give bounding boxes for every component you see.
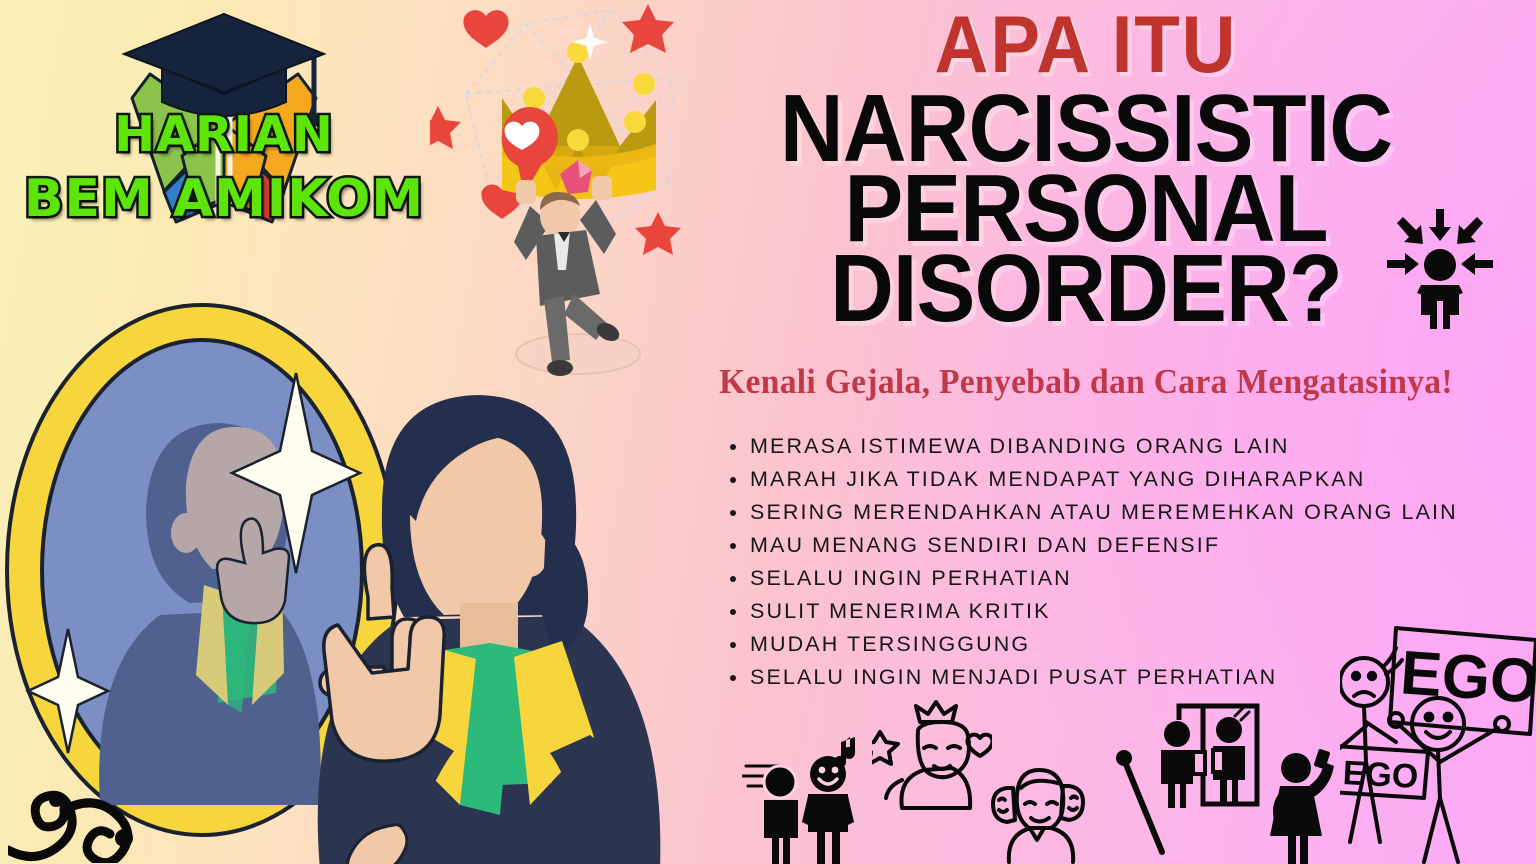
logo-line-1: HARIAN — [14, 106, 434, 163]
page-subtitle: Kenali Gejala, Penyebab dan Cara Mengata… — [654, 362, 1518, 402]
mirror-icon-graphic — [1155, 700, 1260, 812]
list-item: SELALU INGIN PERHATIAN — [728, 562, 1528, 595]
princess-icon-graphic — [872, 700, 992, 815]
harian-bem-amikom-logo: HARIAN BEM AMIKOM — [14, 6, 434, 236]
ego-sign-big-label: EGO — [1398, 638, 1536, 716]
list-item: MAU MENANG SENDIRI DAN DEFENSIF — [728, 529, 1528, 562]
attention-icon-graphic — [1385, 205, 1495, 330]
infographic-poster: HARIAN BEM AMIKOM — [0, 0, 1536, 864]
person-with-inward-arrows-icon — [1385, 205, 1495, 330]
multiple-faces-masks-icon — [985, 752, 1090, 864]
woman-selfie-icon — [1270, 744, 1340, 864]
logo-line-2: BEM AMIKOM — [14, 169, 434, 229]
title-line-3: DISORDER? — [672, 245, 1500, 333]
selfie-icon-graphic — [1270, 744, 1340, 864]
flourish-graphic — [8, 758, 198, 863]
ego-sign-small-label: EGO — [1342, 754, 1419, 796]
faces-icon-graphic — [985, 752, 1090, 864]
decorative-swirl — [8, 758, 198, 863]
bullying-stick-figures-icon — [742, 722, 862, 864]
title-kicker: APA ITU — [672, 8, 1500, 83]
vain-princess-selfie-icon — [872, 700, 992, 815]
ego-protest-signs-icon: EGO EGO — [1340, 612, 1536, 864]
list-item: MARAH JIKA TIDAK MENDAPAT YANG DIHARAPKA… — [728, 463, 1528, 496]
ego-icon-graphic: EGO EGO — [1340, 612, 1536, 864]
list-item: MERASA ISTIMEWA DIBANDING ORANG LAIN — [728, 430, 1528, 463]
person-in-mirror-icon — [1155, 700, 1260, 812]
bullying-icon-graphic — [742, 722, 862, 864]
list-item: SERING MERENDAHKAN ATAU MEREMEHKAN ORANG… — [728, 496, 1528, 529]
